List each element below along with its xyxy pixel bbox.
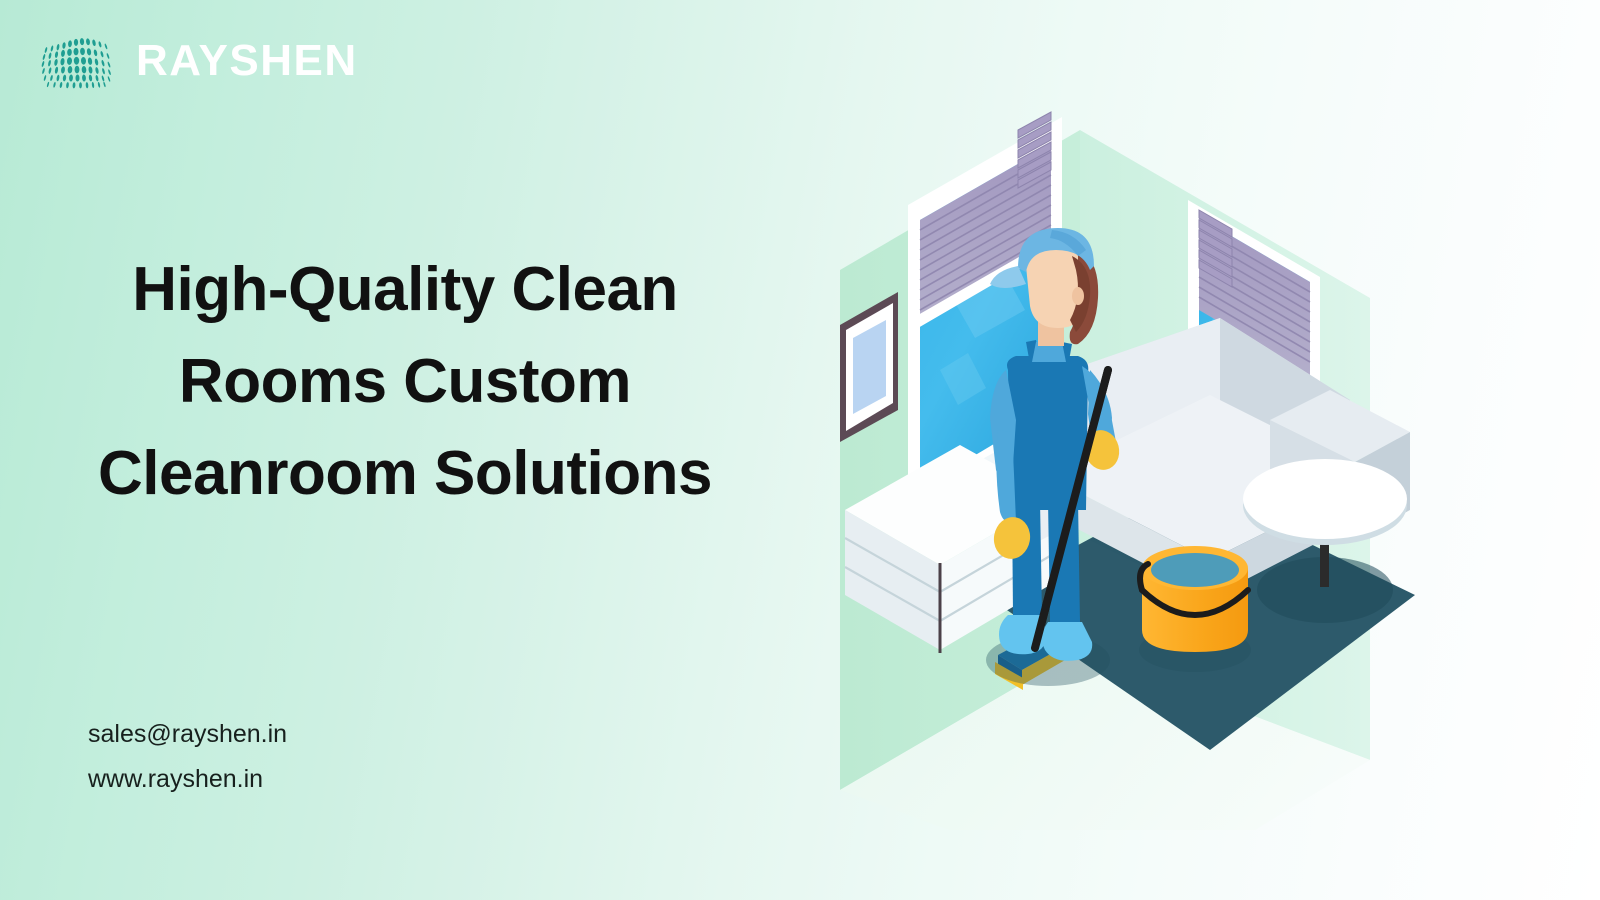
- dotted-sphere-mark: [30, 29, 122, 93]
- contact-website[interactable]: www.rayshen.in: [88, 757, 287, 802]
- brand-name: RAYSHEN: [136, 39, 358, 83]
- contact-email[interactable]: sales@rayshen.in: [88, 712, 287, 757]
- bucket: [1139, 546, 1251, 672]
- contact-block: sales@rayshen.in www.rayshen.in: [88, 712, 287, 801]
- page-title: High-Quality Clean Rooms Custom Cleanroo…: [60, 244, 750, 519]
- hero-illustration: [790, 70, 1490, 830]
- brand-logo: RAYSHEN: [30, 22, 358, 100]
